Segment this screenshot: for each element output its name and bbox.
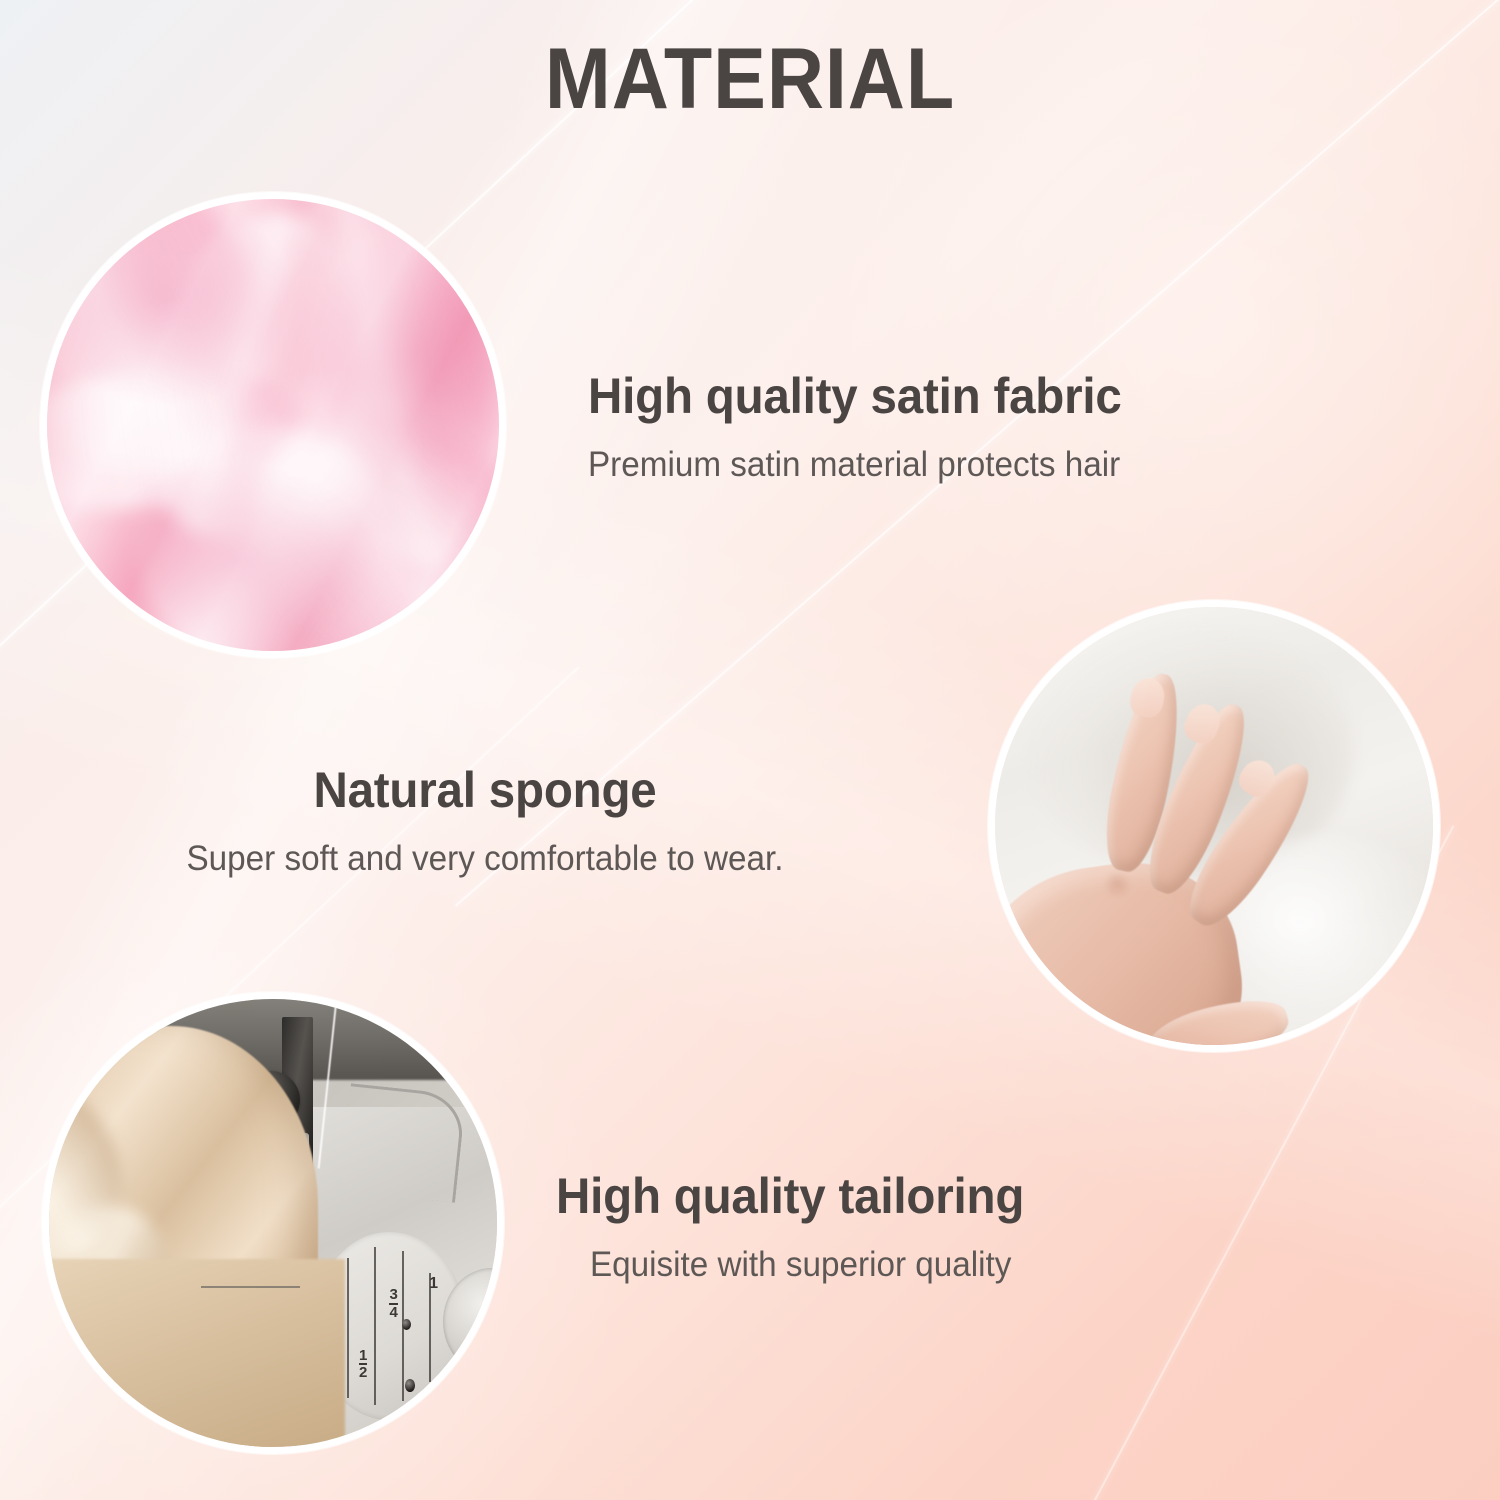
material-infographic-poster: MATERIAL High quality satin fabric Premi…: [0, 0, 1500, 1500]
fabric-flat-section: [42, 1259, 345, 1454]
satin-fabric-photo: [47, 199, 499, 651]
feature-heading-satin: High quality satin fabric: [588, 368, 1122, 424]
hand-graphic: [988, 782, 1337, 1052]
sewing-machine-photo: 1 4 1 2 3 4 1: [49, 999, 497, 1447]
feature-subtext-tailoring: Equisite with superior quality: [590, 1244, 1026, 1286]
thread-guide-arm: [339, 1083, 466, 1202]
seam-guide-line: [374, 1247, 376, 1405]
feature-heading-tailoring: High quality tailoring: [556, 1168, 1024, 1224]
feature-subtext-satin: Premium satin material protects hair: [588, 444, 1122, 486]
fraction-numerator: 3: [389, 1288, 397, 1302]
feature-heading-sponge: Natural sponge: [24, 762, 946, 818]
stitch-seam: [201, 1286, 300, 1288]
feature-text-sponge: Natural sponge Super soft and very comfo…: [0, 762, 970, 880]
satin-shading-overlay: [47, 199, 499, 651]
hand-pressing-sponge-photo: [995, 607, 1433, 1045]
plate-screw: [402, 1319, 411, 1330]
dial-mark-one: 1: [429, 1277, 438, 1292]
fraction-denominator: 2: [359, 1366, 367, 1380]
page-title: MATERIAL: [60, 30, 1440, 129]
plate-screw: [405, 1379, 416, 1392]
dial-mark-three-quarter: 3 4: [389, 1288, 397, 1320]
feature-subtext-sponge: Super soft and very comfortable to wear.: [24, 838, 946, 880]
feature-text-satin: High quality satin fabric Premium satin …: [588, 368, 1150, 486]
sewing-machine-image-circle: 1 4 1 2 3 4 1: [42, 992, 504, 1454]
knuckle: [1101, 873, 1134, 896]
fraction-numerator: 1: [359, 1349, 367, 1363]
sponge-image-circle: [988, 600, 1440, 1052]
seam-guide-line: [347, 1258, 349, 1397]
feature-text-tailoring: High quality tailoring Equisite with sup…: [556, 1168, 1049, 1286]
satin-fabric-image-circle: [40, 192, 506, 658]
fraction-denominator: 4: [389, 1306, 397, 1320]
dial-mark-half: 1 2: [359, 1349, 367, 1381]
